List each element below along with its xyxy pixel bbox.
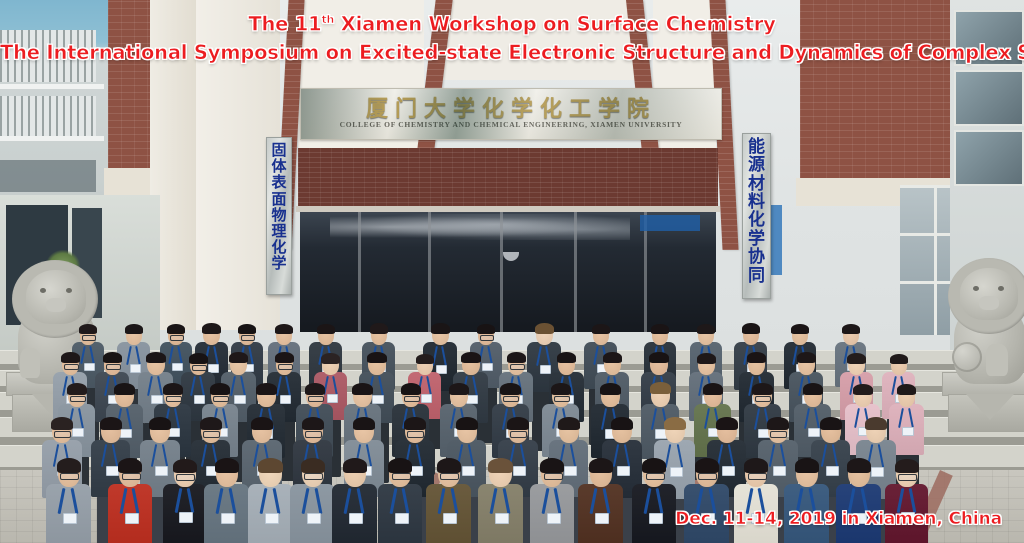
attendee-hair bbox=[642, 458, 666, 473]
attendee-glasses-icon bbox=[440, 473, 459, 480]
attendee-glasses-icon bbox=[304, 473, 323, 480]
attendee-hair bbox=[744, 458, 768, 473]
brick-facade-right bbox=[800, 0, 950, 180]
attendee-badge bbox=[595, 513, 609, 524]
window-pane bbox=[954, 130, 1024, 186]
attendee bbox=[163, 460, 206, 543]
attendee-badge bbox=[853, 513, 867, 524]
attendee-badge bbox=[265, 513, 279, 524]
attendee-group bbox=[0, 225, 1024, 490]
plaque-char: 固 bbox=[267, 142, 291, 158]
building-ledge bbox=[0, 136, 104, 141]
attendee-badge bbox=[395, 513, 409, 524]
plaque-char: 物 bbox=[267, 207, 291, 223]
plaque-char: 能 bbox=[743, 138, 770, 156]
plaque-char: 源 bbox=[743, 156, 770, 174]
attendee-hair bbox=[173, 459, 197, 473]
attendee-glasses-icon bbox=[698, 473, 717, 480]
attendee-badge bbox=[801, 513, 815, 524]
attendee-badge bbox=[901, 512, 915, 523]
attendee-badge bbox=[443, 513, 457, 524]
attendee bbox=[378, 459, 422, 543]
attendee-hair bbox=[589, 458, 613, 473]
attendee-hair bbox=[695, 458, 719, 473]
plaque-char: 体 bbox=[267, 158, 291, 174]
attendee-badge bbox=[751, 513, 765, 524]
entrance-brick-band bbox=[298, 148, 718, 208]
attendee-glasses-icon bbox=[748, 473, 767, 480]
attendee-hair bbox=[795, 458, 819, 473]
attendee-glasses-icon bbox=[392, 473, 411, 480]
attendee-glasses-icon bbox=[544, 473, 563, 480]
attendee bbox=[632, 459, 676, 543]
attendee bbox=[290, 459, 335, 543]
attendee bbox=[836, 459, 881, 543]
attendee-glasses-icon bbox=[176, 474, 195, 481]
attendee-hair bbox=[57, 458, 81, 473]
attendee-hair bbox=[388, 458, 412, 473]
attendee-hair bbox=[540, 458, 564, 473]
attendee bbox=[530, 459, 574, 543]
window-pane bbox=[954, 70, 1024, 126]
window-pane bbox=[954, 10, 1024, 66]
attendee bbox=[784, 459, 829, 543]
attendee-row-front-row bbox=[0, 225, 1024, 490]
attendee-glasses-icon bbox=[898, 474, 917, 481]
attendee bbox=[108, 459, 152, 543]
attendee-glasses-icon bbox=[122, 473, 141, 480]
attendee bbox=[332, 459, 377, 543]
attendee-hair bbox=[847, 458, 871, 473]
attendee-badge bbox=[63, 513, 77, 524]
attendee bbox=[204, 459, 249, 543]
balcony-railing bbox=[0, 30, 96, 82]
sign-glass-reflection bbox=[301, 89, 721, 139]
attendee-hair bbox=[215, 458, 239, 473]
attendee-hair bbox=[258, 458, 283, 473]
arch-gap-center bbox=[441, 0, 636, 80]
plaque-char: 面 bbox=[267, 191, 291, 207]
attendee-badge bbox=[179, 512, 193, 523]
attendee bbox=[46, 459, 91, 543]
plaque-char: 表 bbox=[267, 174, 291, 190]
attendee-badge bbox=[221, 513, 235, 524]
attendee-hair bbox=[437, 458, 461, 473]
attendee-hair bbox=[895, 459, 919, 473]
conference-group-photo: 厦门大学化学化工学院 COLLEGE OF CHEMISTRY AND CHEM… bbox=[0, 0, 1024, 543]
attendee bbox=[684, 459, 729, 543]
plaque-char: 料 bbox=[743, 193, 770, 211]
attendee-hair bbox=[118, 458, 142, 473]
attendee-badge bbox=[495, 513, 509, 524]
attendee-hair bbox=[488, 458, 513, 473]
building-ledge bbox=[0, 84, 104, 89]
attendee bbox=[734, 459, 778, 543]
attendee-hair bbox=[343, 458, 367, 473]
attendee bbox=[578, 459, 623, 543]
balcony-railing bbox=[0, 96, 96, 136]
plaque-char: 材 bbox=[743, 175, 770, 193]
attendee-badge bbox=[547, 513, 561, 524]
attendee-badge bbox=[649, 513, 663, 524]
window bbox=[0, 160, 96, 192]
attendee-glasses-icon bbox=[646, 473, 665, 480]
attendee bbox=[248, 459, 293, 543]
venue-name-sign: 厦门大学化学化工学院 COLLEGE OF CHEMISTRY AND CHEM… bbox=[300, 88, 722, 140]
attendee-badge bbox=[701, 513, 715, 524]
attendee bbox=[885, 460, 928, 543]
attendee-badge bbox=[349, 513, 363, 524]
attendee-hair bbox=[301, 458, 325, 473]
attendee bbox=[426, 459, 471, 543]
attendee-badge bbox=[125, 513, 139, 524]
attendee bbox=[478, 459, 523, 543]
attendee-glasses-icon bbox=[60, 473, 79, 480]
attendee-badge bbox=[307, 513, 321, 524]
